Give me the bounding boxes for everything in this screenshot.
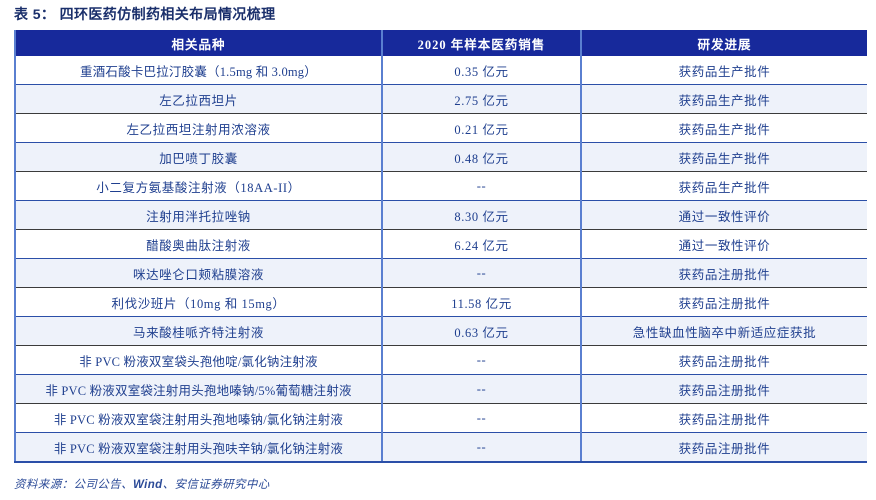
table-row: 加巴喷丁胶囊0.48 亿元获药品生产批件 [15,143,867,172]
cell-product: 非 PVC 粉液双室袋头孢他啶/氯化钠注射液 [15,346,382,375]
cell-product: 马来酸桂哌齐特注射液 [15,317,382,346]
cell-progress: 获药品注册批件 [581,433,867,463]
cell-progress: 获药品生产批件 [581,85,867,114]
source-wind-label: Wind [133,479,163,491]
table-header-row: 相关品种 2020 年样本医药销售 研发进展 [15,30,867,56]
cell-product: 左乙拉西坦片 [15,85,382,114]
cell-product: 加巴喷丁胶囊 [15,143,382,172]
cell-progress: 获药品生产批件 [581,114,867,143]
column-header-progress: 研发进展 [581,30,867,56]
cell-progress: 获药品注册批件 [581,288,867,317]
cell-sales: -- [382,259,581,288]
cell-product: 小二复方氨基酸注射液（18AA-II） [15,172,382,201]
table-row: 咪达唑仑口颊粘膜溶液--获药品注册批件 [15,259,867,288]
table-row: 非 PVC 粉液双室袋注射用头孢地嗪钠/氯化钠注射液--获药品注册批件 [15,404,867,433]
cell-sales: 8.30 亿元 [382,201,581,230]
cell-product: 非 PVC 粉液双室袋注射用头孢地嗪钠/5%葡萄糖注射液 [15,375,382,404]
table-figure-page: 表 5： 四环医药仿制药相关布局情况梳理 相关品种 2020 年样本医药销售 研… [0,0,876,500]
source-suffix: 、安信证券研究中心 [163,479,270,491]
table-row: 非 PVC 粉液双室袋注射用头孢呋辛钠/氯化钠注射液--获药品注册批件 [15,433,867,463]
table-body: 重酒石酸卡巴拉汀胶囊（1.5mg 和 3.0mg）0.35 亿元获药品生产批件左… [15,56,867,462]
table-row: 左乙拉西坦注射用浓溶液0.21 亿元获药品生产批件 [15,114,867,143]
generic-drug-layout-table: 相关品种 2020 年样本医药销售 研发进展 重酒石酸卡巴拉汀胶囊（1.5mg … [14,30,867,463]
cell-product: 左乙拉西坦注射用浓溶液 [15,114,382,143]
cell-sales: -- [382,404,581,433]
cell-progress: 获药品生产批件 [581,56,867,85]
cell-sales: -- [382,433,581,463]
table-row: 注射用泮托拉唑钠8.30 亿元通过一致性评价 [15,201,867,230]
cell-product: 重酒石酸卡巴拉汀胶囊（1.5mg 和 3.0mg） [15,56,382,85]
table-row: 马来酸桂哌齐特注射液0.63 亿元急性缺血性脑卒中新适应症获批 [15,317,867,346]
cell-progress: 获药品生产批件 [581,172,867,201]
cell-sales: 11.58 亿元 [382,288,581,317]
cell-progress: 获药品注册批件 [581,346,867,375]
cell-product: 非 PVC 粉液双室袋注射用头孢呋辛钠/氯化钠注射液 [15,433,382,463]
cell-sales: 6.24 亿元 [382,230,581,259]
cell-progress: 获药品注册批件 [581,259,867,288]
table-header: 相关品种 2020 年样本医药销售 研发进展 [15,30,867,56]
cell-product: 注射用泮托拉唑钠 [15,201,382,230]
column-header-product: 相关品种 [15,30,382,56]
cell-product: 利伐沙班片（10mg 和 15mg） [15,288,382,317]
cell-progress: 急性缺血性脑卒中新适应症获批 [581,317,867,346]
cell-sales: -- [382,172,581,201]
data-table-wrapper: 相关品种 2020 年样本医药销售 研发进展 重酒石酸卡巴拉汀胶囊（1.5mg … [14,30,866,463]
table-row: 非 PVC 粉液双室袋注射用头孢地嗪钠/5%葡萄糖注射液--获药品注册批件 [15,375,867,404]
table-row: 非 PVC 粉液双室袋头孢他啶/氯化钠注射液--获药品注册批件 [15,346,867,375]
source-prefix: 资料来源：公司公告、 [14,479,133,491]
cell-sales: 2.75 亿元 [382,85,581,114]
cell-progress: 获药品注册批件 [581,404,867,433]
cell-sales: 0.63 亿元 [382,317,581,346]
cell-sales: 0.48 亿元 [382,143,581,172]
cell-progress: 获药品生产批件 [581,143,867,172]
cell-sales: -- [382,346,581,375]
cell-product: 咪达唑仑口颊粘膜溶液 [15,259,382,288]
cell-progress: 获药品注册批件 [581,375,867,404]
cell-sales: -- [382,375,581,404]
cell-sales: 0.21 亿元 [382,114,581,143]
table-row: 醋酸奥曲肽注射液6.24 亿元通过一致性评价 [15,230,867,259]
page-title: 表 5： 四环医药仿制药相关布局情况梳理 [14,4,276,24]
cell-progress: 通过一致性评价 [581,201,867,230]
table-row: 重酒石酸卡巴拉汀胶囊（1.5mg 和 3.0mg）0.35 亿元获药品生产批件 [15,56,867,85]
cell-product: 非 PVC 粉液双室袋注射用头孢地嗪钠/氯化钠注射液 [15,404,382,433]
table-row: 左乙拉西坦片2.75 亿元获药品生产批件 [15,85,867,114]
column-header-sales: 2020 年样本医药销售 [382,30,581,56]
cell-sales: 0.35 亿元 [382,56,581,85]
cell-progress: 通过一致性评价 [581,230,867,259]
table-row: 小二复方氨基酸注射液（18AA-II）--获药品生产批件 [15,172,867,201]
source-note: 资料来源：公司公告、Wind、安信证券研究中心 [14,476,270,492]
table-row: 利伐沙班片（10mg 和 15mg）11.58 亿元获药品注册批件 [15,288,867,317]
cell-product: 醋酸奥曲肽注射液 [15,230,382,259]
